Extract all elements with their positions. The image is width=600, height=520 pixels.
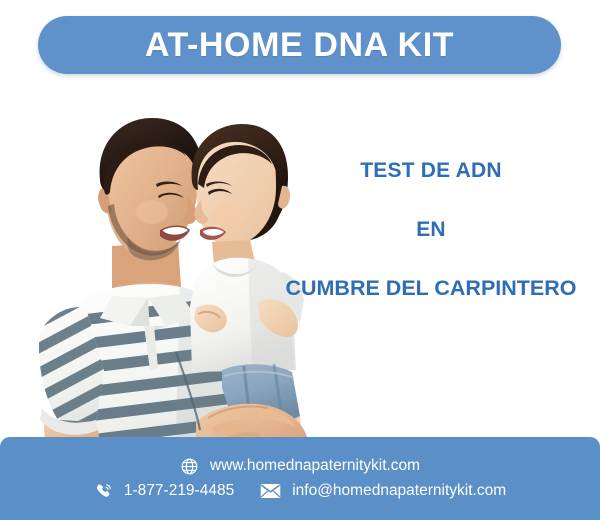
- email-item[interactable]: info@homednapaternitykit.com: [260, 483, 506, 499]
- footer-contact-rows: www.homednapaternitykit.com 1-877-219-44…: [0, 437, 600, 520]
- page-title: AT-HOME DNA KIT: [145, 28, 454, 62]
- email-label: info@homednapaternitykit.com: [292, 483, 506, 499]
- envelope-icon: [260, 483, 281, 499]
- headline-block: TEST DE ADN EN CUMBRE DEL CARPINTERO: [262, 160, 600, 300]
- headline-line-1: TEST DE ADN: [262, 160, 600, 181]
- phone-item[interactable]: 1-877-219-4485: [94, 482, 234, 501]
- headline-line-3: CUMBRE DEL CARPINTERO: [262, 278, 600, 300]
- globe-icon: [180, 457, 199, 476]
- phone-label: 1-877-219-4485: [124, 483, 234, 499]
- footer-row-website: www.homednapaternitykit.com: [180, 457, 420, 476]
- website-item[interactable]: www.homednapaternitykit.com: [180, 457, 420, 476]
- footer-row-phone-email: 1-877-219-4485 info@homednapaternitykit.…: [94, 482, 506, 501]
- at-home-dna-kit-poster: AT-HOME DNA KIT TEST DE ADN EN CUMBRE DE…: [0, 0, 600, 520]
- phone-icon: [94, 482, 113, 501]
- header-banner: AT-HOME DNA KIT: [38, 16, 561, 74]
- headline-line-2: EN: [262, 219, 600, 240]
- website-label: www.homednapaternitykit.com: [210, 458, 420, 474]
